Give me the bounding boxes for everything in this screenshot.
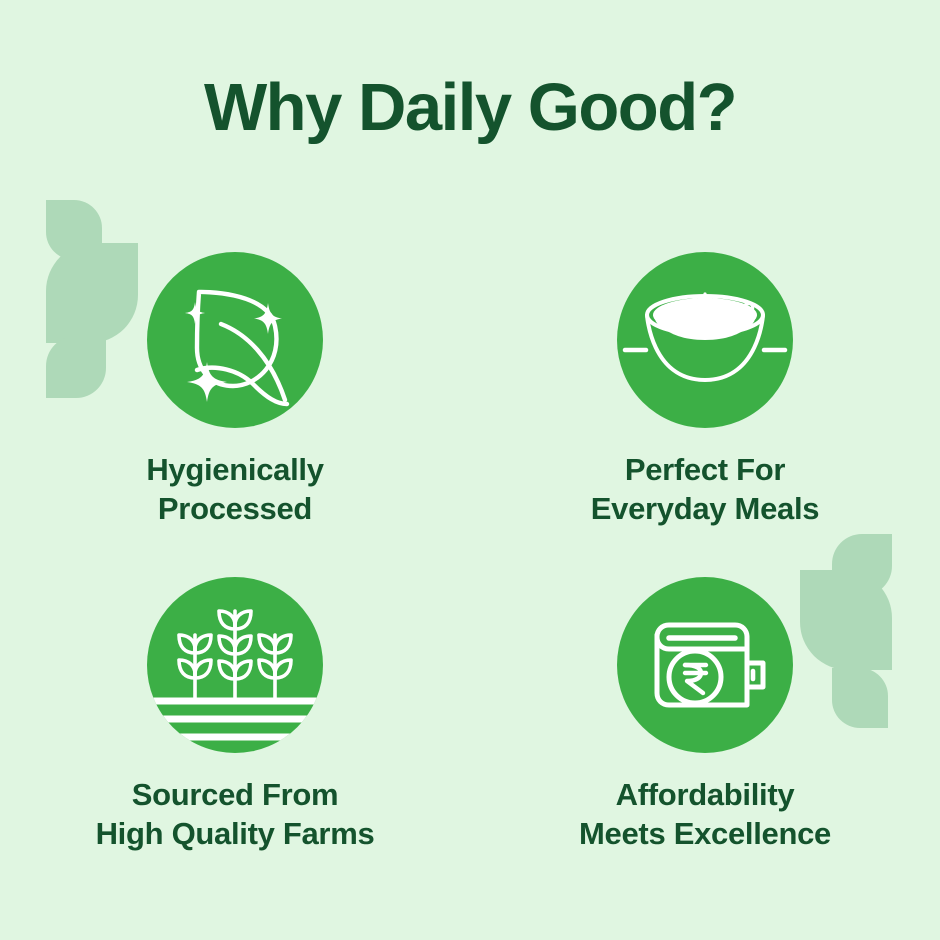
feature-label: Hygienically Processed xyxy=(146,451,323,529)
feature-label: Perfect For Everyday Meals xyxy=(591,451,819,529)
promo-card: Why Daily Good? xyxy=(0,0,940,940)
rupee-wallet-icon xyxy=(617,577,793,753)
feature-item-perfect-for-everyday-meals: Perfect For Everyday Meals xyxy=(485,252,925,577)
soup-bowl-icon xyxy=(617,252,793,428)
crop-field-icon xyxy=(147,577,323,753)
feature-label: Affordability Meets Excellence xyxy=(579,776,831,854)
page-title: Why Daily Good? xyxy=(0,73,940,143)
feature-item-hygienically-processed: Hygienically Processed xyxy=(15,252,455,577)
feature-label: Sourced From High Quality Farms xyxy=(96,776,375,854)
leaf-decoration-left-top xyxy=(46,200,102,260)
sparkle-leaf-icon xyxy=(147,252,323,428)
feature-item-affordability-meets-excellence: Affordability Meets Excellence xyxy=(485,577,925,902)
feature-item-sourced-from-high-quality-farms: Sourced From High Quality Farms xyxy=(15,577,455,902)
feature-grid: Hygienically Processed xyxy=(0,252,940,902)
